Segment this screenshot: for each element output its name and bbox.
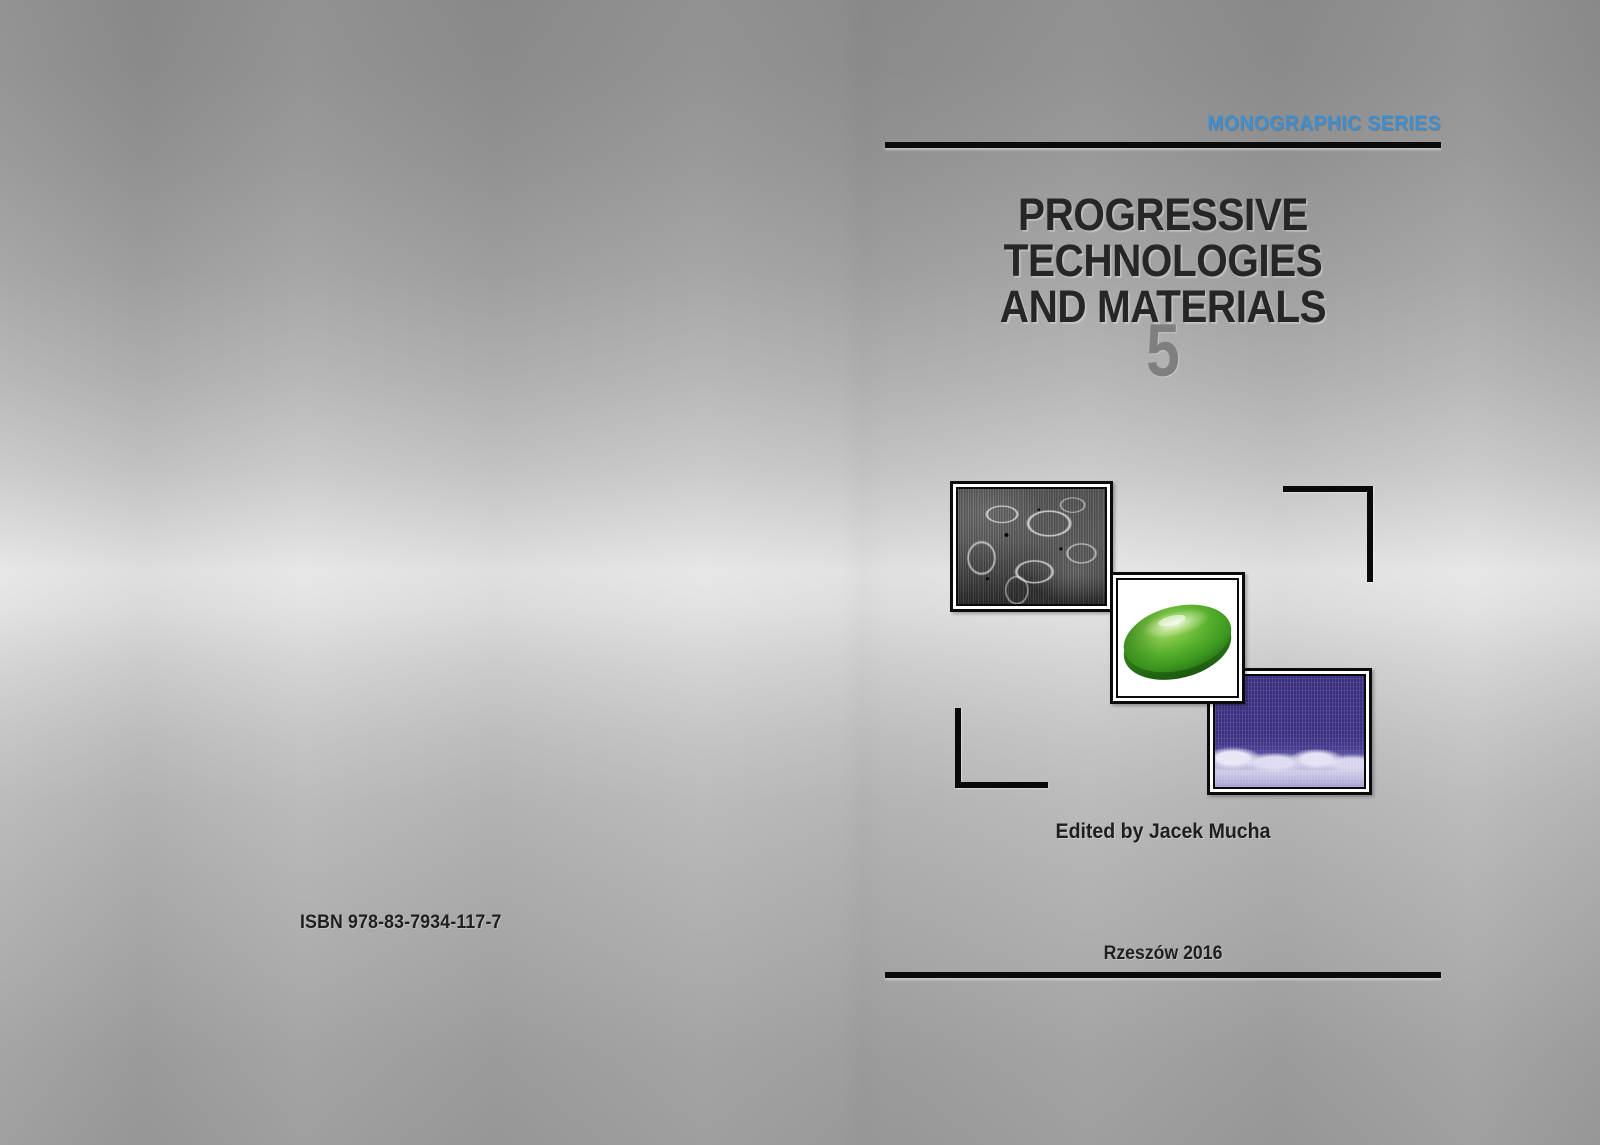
top-rule	[885, 142, 1441, 148]
imprint-text: Rzeszów 2016	[904, 943, 1421, 965]
bottom-rule	[885, 972, 1441, 978]
microstructure-image-frame	[956, 487, 1107, 606]
microstructure-image	[950, 481, 1113, 612]
microstructure-artwork	[958, 489, 1105, 604]
title-line-1: PROGRESSIVE TECHNOLOGIES	[1004, 189, 1323, 286]
green-ellipsoid-artwork	[1118, 580, 1237, 696]
green-ellipsoid-image-frame	[1116, 578, 1239, 698]
editor-credit: Edited by Jacek Mucha	[904, 820, 1421, 844]
volume-number: 5	[935, 308, 1391, 393]
isbn-text: ISBN 978-83-7934-117-7	[300, 912, 502, 934]
book-cover: ISBN 978-83-7934-117-7 MONOGRAPHIC SERIE…	[0, 0, 1600, 1145]
green-ellipsoid-image	[1110, 572, 1245, 704]
series-label: MONOGRAPHIC SERIES	[1207, 112, 1441, 136]
spine-shading	[840, 0, 890, 1145]
